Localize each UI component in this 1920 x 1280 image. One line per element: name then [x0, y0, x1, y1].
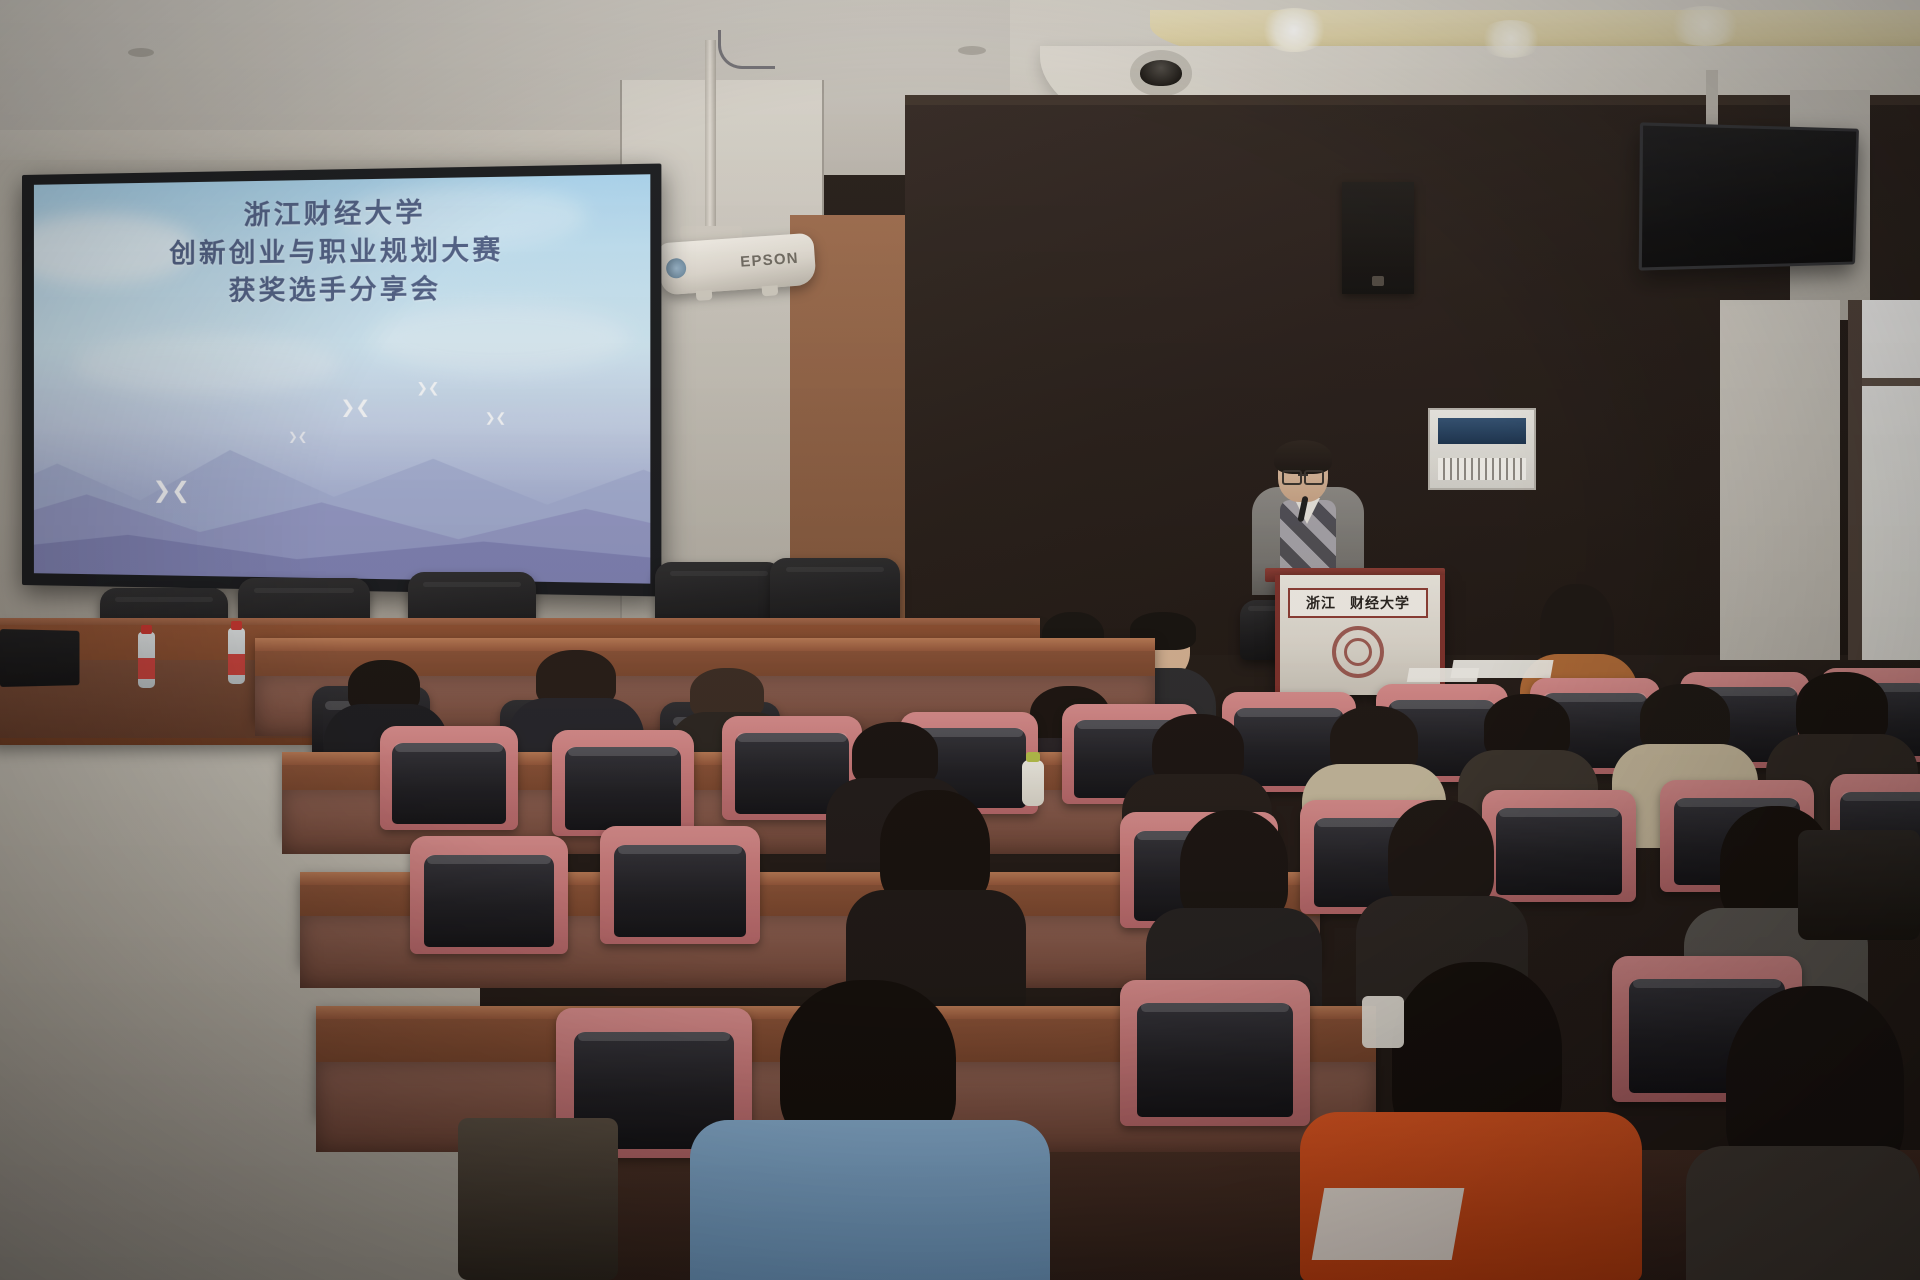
handbag [1798, 830, 1920, 940]
ceiling-camera-icon [1140, 60, 1182, 86]
lecture-hall-photo: EPSON ❯❮ ❯❮ ❯❮ ❯❮ ❯❮ 浙江财经大学 创新创业与职业规划大赛 … [0, 0, 1920, 1280]
projection-screen-frame: ❯❮ ❯❮ ❯❮ ❯❮ ❯❮ 浙江财经大学 创新创业与职业规划大赛 获奖选手分享… [22, 164, 661, 597]
podium-nameplate-left: 浙江 [1306, 593, 1336, 613]
projector-lens-icon [665, 258, 686, 279]
water-bottle [138, 632, 155, 688]
wall-trim [905, 95, 1920, 105]
water-bottle [228, 628, 245, 684]
podium-nameplate-right: 财经大学 [1350, 593, 1410, 613]
wall-right-light [1720, 300, 1840, 660]
slide-title-block: 浙江财经大学 创新创业与职业规划大赛 获奖选手分享会 [34, 191, 650, 312]
window-mullion [1862, 378, 1920, 386]
monitor-mount-pole [1706, 70, 1718, 130]
wall-loudspeaker [1342, 182, 1414, 294]
paper-sheet [1312, 1188, 1465, 1260]
panel-breakers-icon [1438, 458, 1526, 480]
slide-bird-icon: ❯❮ [288, 430, 307, 443]
presenter-hair [1274, 440, 1332, 474]
laptop [0, 629, 80, 687]
slide-bird-icon: ❯❮ [153, 478, 191, 504]
auditorium-seat [1120, 980, 1310, 1126]
window-daylight [1862, 300, 1920, 660]
auditorium-seat [1482, 790, 1636, 902]
ceiling-downlight-icon [1478, 20, 1544, 58]
auditorium-seat [552, 730, 694, 836]
tote-bag [458, 1118, 618, 1280]
projector-cable [718, 30, 775, 69]
auditorium-seat [410, 836, 568, 954]
auditorium-seat [600, 826, 760, 944]
panel-window [1438, 418, 1526, 444]
slide-line-3: 获奖选手分享会 [34, 269, 650, 312]
slide-bird-icon: ❯❮ [416, 381, 439, 397]
projector: EPSON [658, 233, 816, 296]
slide-line-2: 创新创业与职业规划大赛 [34, 230, 650, 275]
slide-bird-icon: ❯❮ [340, 397, 370, 418]
face-mask [1362, 996, 1404, 1048]
glasses-icon [1282, 470, 1324, 481]
projector-mount-pole [705, 40, 716, 240]
electrical-panel [1428, 408, 1536, 490]
ceiling-downlight-icon [1258, 8, 1330, 52]
podium-emblem-icon [1332, 626, 1384, 678]
paper-sheet [1407, 668, 1479, 682]
ceiling-downlight-icon [1665, 6, 1745, 46]
podium-nameplate: 浙江 财经大学 [1288, 588, 1428, 618]
projection-screen: ❯❮ ❯❮ ❯❮ ❯❮ ❯❮ 浙江财经大学 创新创业与职业规划大赛 获奖选手分享… [34, 174, 650, 583]
ceiling-monitor [1639, 122, 1859, 270]
auditorium-seat [380, 726, 518, 830]
ceiling-vent-icon [128, 48, 154, 57]
projector-brand-label: EPSON [740, 250, 800, 271]
slide-bird-icon: ❯❮ [485, 410, 507, 425]
ceiling-vent-icon [958, 46, 986, 55]
water-bottle-green-cap [1022, 760, 1044, 806]
slide-mountain-graphic [34, 393, 650, 584]
